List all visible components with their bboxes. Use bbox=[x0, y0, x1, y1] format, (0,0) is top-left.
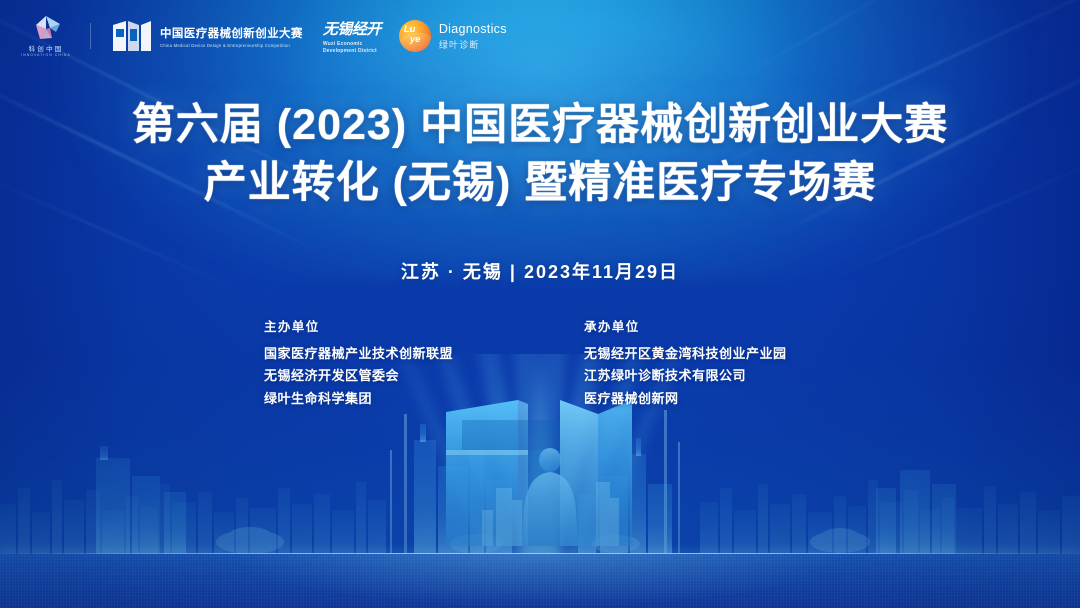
logo-luye-diagnostics: Lu ye Diagnostics 绿叶诊断 bbox=[399, 13, 507, 59]
poster-title: 第六届 (2023) 中国医疗器械创新创业大赛 产业转化 (无锡) 暨精准医疗专… bbox=[0, 96, 1080, 212]
title-line-1: 第六届 (2023) 中国医疗器械创新创业大赛 bbox=[0, 96, 1080, 154]
background-vignette bbox=[0, 0, 1080, 608]
luye-mark-line2: ye bbox=[410, 35, 421, 45]
organiser-item: 医疗器械创新网 bbox=[584, 388, 816, 410]
host-item: 绿叶生命科学集团 bbox=[264, 388, 496, 410]
poster-root: 科创中国 INNOVATION CHINA 中国医疗器械创新创业大赛 China… bbox=[0, 0, 1080, 608]
logo-innovation-china: 科创中国 INNOVATION CHINA bbox=[12, 13, 80, 59]
sponsor-logo-bar: 科创中国 INNOVATION CHINA 中国医疗器械创新创业大赛 China… bbox=[0, 0, 1080, 72]
logo-wuxi-edd: 无锡经开 Wuxi Economic Development District bbox=[323, 13, 381, 59]
open-gate-icon bbox=[111, 19, 153, 53]
organiser-section: 主办单位 国家医疗器械产业技术创新联盟 无锡经济开发区管委会 绿叶生命科学集团 … bbox=[0, 316, 1080, 410]
origami-bird-icon bbox=[26, 15, 66, 41]
organiser-heading: 承办单位 bbox=[584, 316, 816, 335]
logo-cmdc: 中国医疗器械创新创业大赛 China Medical Device Design… bbox=[111, 13, 303, 59]
host-heading: 主办单位 bbox=[264, 316, 496, 335]
logo-innovation-china-en: INNOVATION CHINA bbox=[21, 53, 71, 57]
host-column: 主办单位 国家医疗器械产业技术创新联盟 无锡经济开发区管委会 绿叶生命科学集团 bbox=[264, 316, 496, 410]
luye-circle-icon: Lu ye bbox=[399, 20, 431, 52]
organiser-item: 江苏绿叶诊断技术有限公司 bbox=[584, 365, 816, 387]
host-item: 国家医疗器械产业技术创新联盟 bbox=[264, 343, 496, 365]
logo-cmdc-en: China Medical Device Design & Entreprene… bbox=[160, 43, 303, 48]
logo-divider bbox=[90, 23, 91, 49]
logo-wuxi-edd-en-line2: Development District bbox=[323, 48, 377, 54]
organiser-item: 无锡经开区黄金湾科技创业产业园 bbox=[584, 343, 816, 365]
organiser-column: 承办单位 无锡经开区黄金湾科技创业产业园 江苏绿叶诊断技术有限公司 医疗器械创新… bbox=[584, 316, 816, 410]
logo-cmdc-cn: 中国医疗器械创新创业大赛 bbox=[160, 25, 303, 41]
logo-luye-cn: 绿叶诊断 bbox=[439, 38, 507, 51]
logo-luye-en: Diagnostics bbox=[439, 22, 507, 36]
logo-wuxi-edd-cn: 无锡经开 bbox=[323, 18, 381, 39]
location-date: 江苏 · 无锡 | 2023年11月29日 bbox=[0, 258, 1080, 284]
logo-innovation-china-cn: 科创中国 bbox=[29, 43, 64, 53]
title-line-2: 产业转化 (无锡) 暨精准医疗专场赛 bbox=[0, 154, 1080, 212]
host-item: 无锡经济开发区管委会 bbox=[264, 365, 496, 387]
